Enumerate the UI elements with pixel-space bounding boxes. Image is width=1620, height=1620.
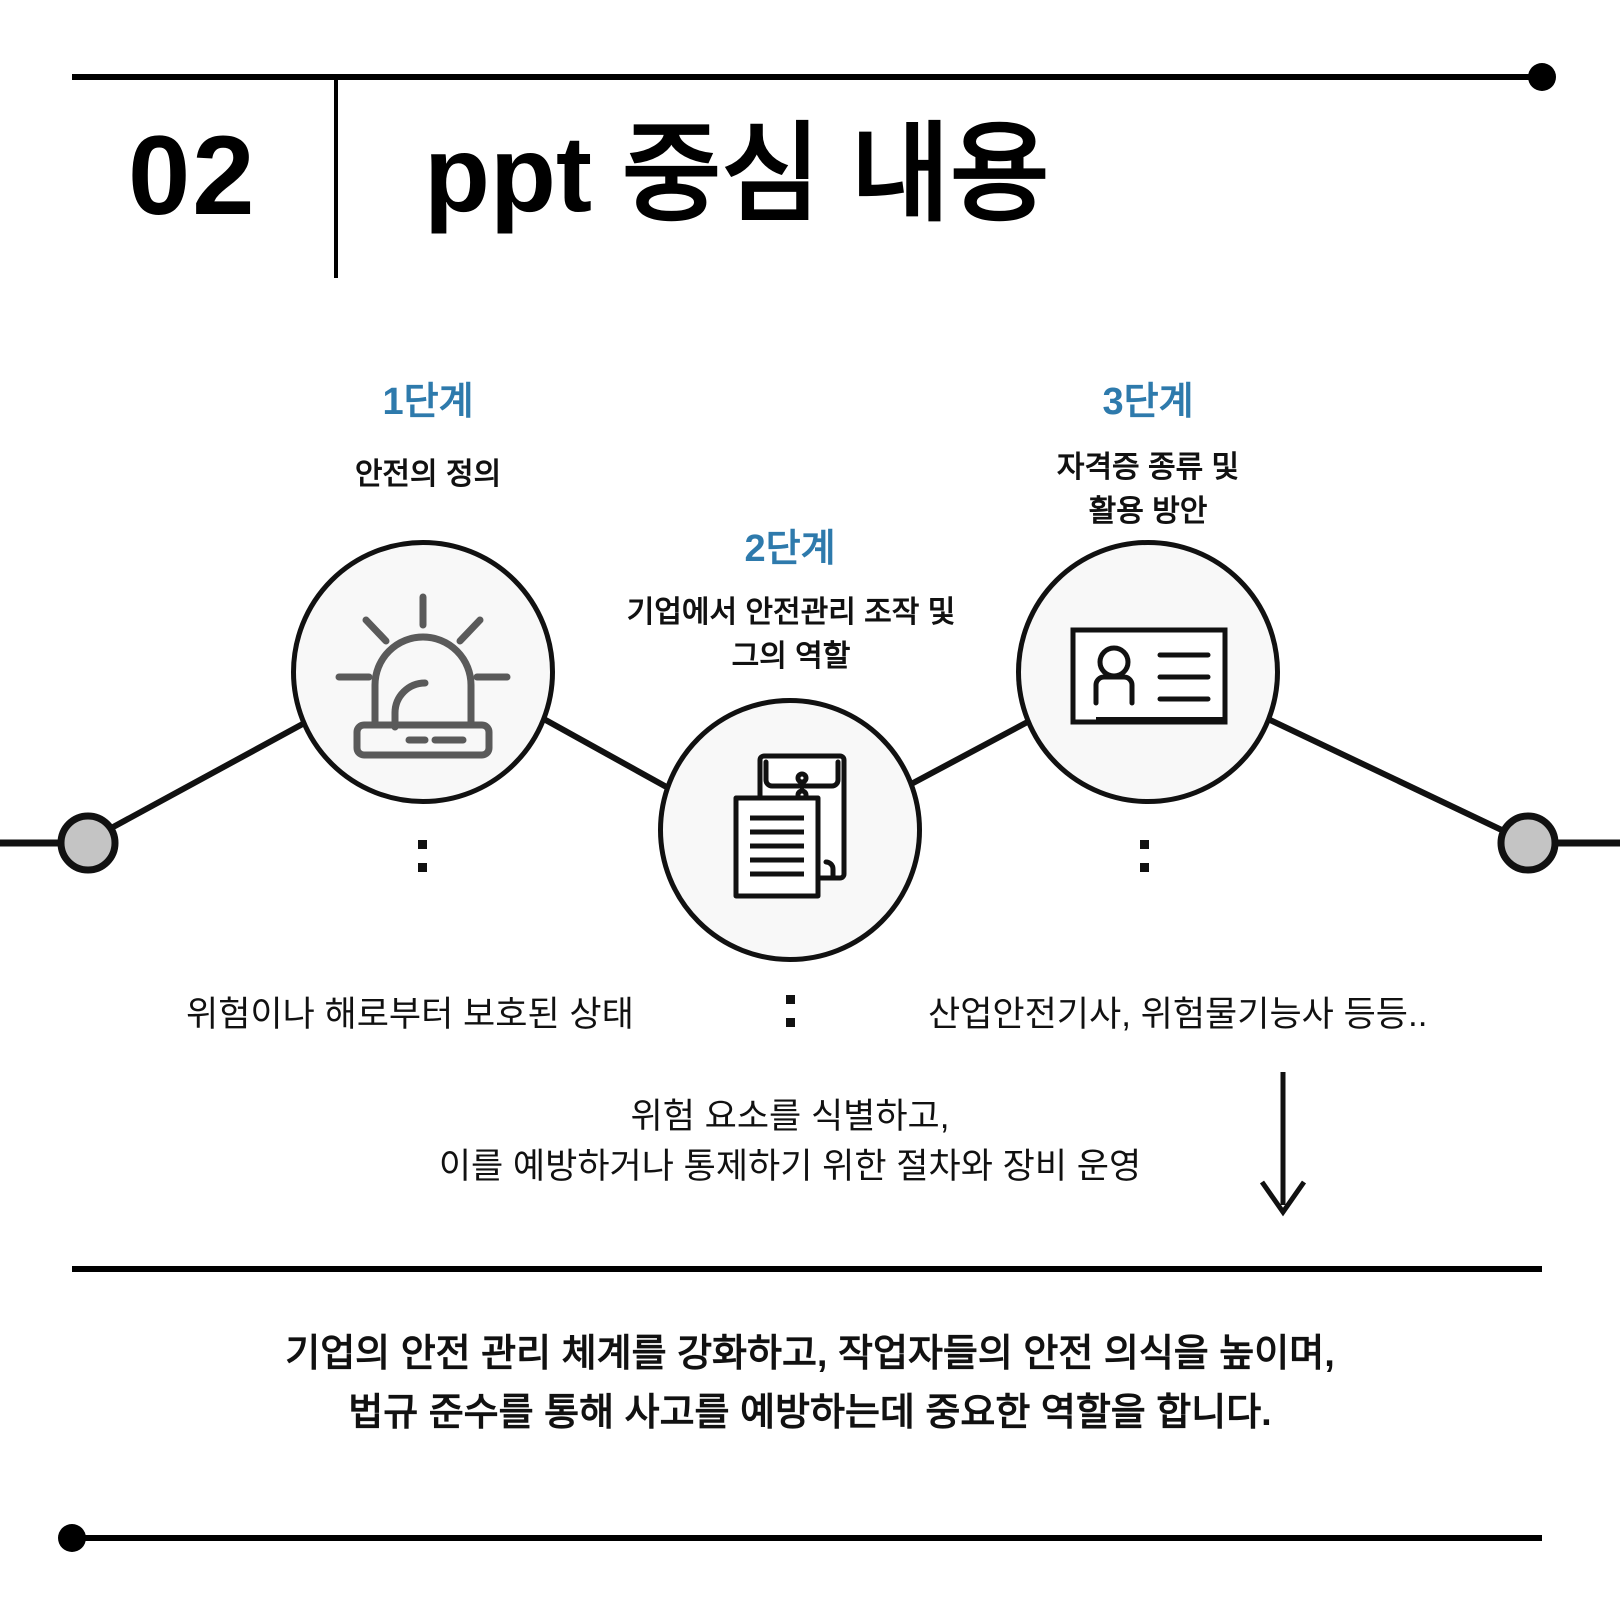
step-3-label: 3단계 bbox=[1003, 380, 1293, 426]
section-number: 02 bbox=[128, 120, 257, 232]
top-rule bbox=[72, 74, 1542, 80]
endpoint-node-right bbox=[1501, 816, 1555, 870]
step-3-caption: 산업안전기사, 위험물기능사 등등.. bbox=[928, 990, 1427, 1041]
step-1-subtitle: 안전의 정의 bbox=[283, 455, 573, 496]
step-2-subtitle-line2: 그의 역할 bbox=[595, 637, 987, 678]
conclusion-block: 기업의 안전 관리 체계를 강화하고, 작업자들의 안전 의식을 높이며, 법규… bbox=[0, 1325, 1620, 1443]
endpoint-node-left bbox=[61, 816, 115, 870]
bottom-rule bbox=[72, 1535, 1542, 1541]
conclusion-line-2: 법규 준수를 통해 사고를 예방하는데 중요한 역할을 합니다. bbox=[0, 1384, 1620, 1443]
step-1-caption: 위험이나 해로부터 보호된 상태 bbox=[186, 990, 634, 1041]
step-2-caption-line2: 이를 예방하거나 통제하기 위한 절차와 장비 운영 bbox=[310, 1142, 1270, 1193]
siren-icon bbox=[331, 585, 515, 765]
id-card-icon bbox=[1068, 625, 1230, 735]
step-2-ellipsis bbox=[786, 995, 795, 1027]
conclusion-line-1: 기업의 안전 관리 체계를 강화하고, 작업자들의 안전 의식을 높이며, bbox=[0, 1325, 1620, 1384]
step-2-label: 2단계 bbox=[645, 527, 935, 573]
step-3-subtitle-line1: 자격증 종류 및 bbox=[1003, 448, 1293, 489]
step-1-label: 1단계 bbox=[283, 380, 573, 426]
step-3-ellipsis bbox=[1140, 840, 1149, 872]
step-3-subtitle-line2: 활용 방안 bbox=[1003, 492, 1293, 533]
header-divider bbox=[334, 78, 338, 278]
document-envelope-icon bbox=[726, 750, 856, 900]
slide-canvas: 02 ppt 중심 내용 1단계 안전의 정의 bbox=[0, 0, 1620, 1620]
top-rule-end-dot bbox=[1528, 63, 1556, 91]
page-title: ppt 중심 내용 bbox=[424, 112, 1049, 236]
conclusion-top-rule bbox=[72, 1266, 1542, 1272]
step-2-subtitle-line1: 기업에서 안전관리 조작 및 bbox=[595, 593, 987, 634]
step-1-ellipsis bbox=[418, 840, 427, 872]
step-2-caption-line1: 위험 요소를 식별하고, bbox=[310, 1092, 1270, 1143]
